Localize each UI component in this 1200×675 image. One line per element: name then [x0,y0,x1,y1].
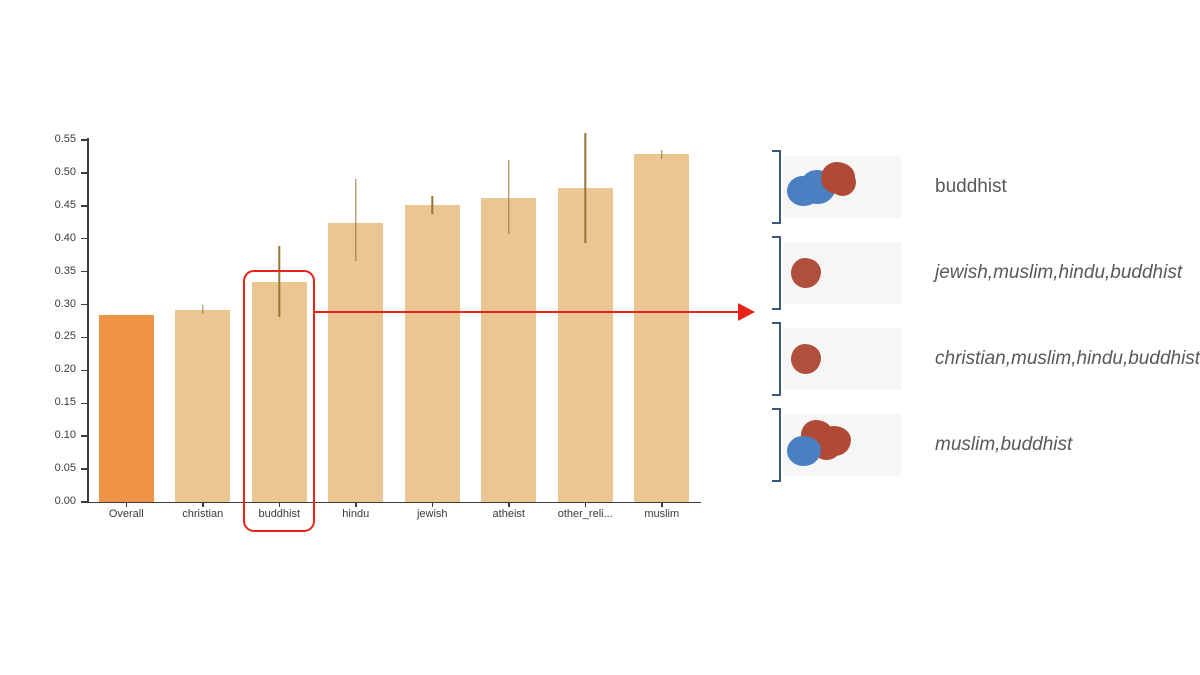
concept-blob-thumbnail [783,414,901,476]
error-bar [585,133,586,244]
x-tick-label-buddhist: buddhist [258,508,300,520]
y-tick-mark [81,403,87,405]
y-tick-label: 0.10 [40,430,76,441]
error-bar [508,160,509,234]
annotation-arrow-head [738,303,755,321]
y-tick-label: 0.35 [40,266,76,277]
legend-row[interactable]: jewish,muslim,hindu,buddhist [768,231,1188,315]
error-bar [432,196,433,214]
error-bar [279,246,280,317]
x-tick-label-muslim: muslim [644,508,679,520]
legend-label: buddhist [935,176,1007,198]
y-tick-mark [81,337,87,339]
y-tick-mark [81,370,87,372]
legend-label: christian,muslim,hindu,buddhist [935,348,1200,370]
blob-shape [830,170,856,196]
error-bar [661,150,662,159]
x-tick-mark [661,502,663,507]
error-bar [355,179,356,261]
y-tick-label: 0.00 [40,496,76,507]
bar-chart-panel: 0.550.500.450.400.350.300.250.200.150.10… [0,0,740,675]
y-tick-label: 0.40 [40,233,76,244]
x-tick-mark [508,502,510,507]
x-tick-label-hindu: hindu [342,508,369,520]
y-tick-mark [81,468,87,470]
blob-shape [791,258,821,288]
bar-hindu [328,223,383,502]
y-tick-mark [81,271,87,273]
bracket-icon [768,236,781,310]
blob-shape [787,436,821,466]
bar-christian [175,310,230,502]
x-tick-label-otherreli: other_reli... [558,508,613,520]
plot-area [88,140,700,502]
y-tick-mark [81,501,87,503]
bracket-icon [768,322,781,396]
y-tick-label: 0.25 [40,331,76,342]
x-tick-label-atheist: atheist [493,508,525,520]
y-tick-mark [81,172,87,174]
y-tick-label: 0.05 [40,463,76,474]
concept-blob-thumbnail [783,328,901,390]
bracket-icon [768,150,781,224]
x-tick-mark [279,502,281,507]
y-tick-mark [81,205,87,207]
bar-overall [99,315,154,502]
x-tick-mark [126,502,128,507]
annotation-arrow-line [315,311,738,314]
y-tick-label: 0.15 [40,397,76,408]
bar-muslim [634,154,689,502]
x-tick-label-jewish: jewish [417,508,448,520]
x-tick-mark [432,502,434,507]
y-tick-label: 0.55 [40,134,76,145]
bracket-icon [768,408,781,482]
y-tick-mark [81,304,87,306]
concept-blob-thumbnail [783,242,901,304]
x-tick-mark [585,502,587,507]
error-bar [202,305,203,315]
x-tick-label-overall: Overall [109,508,144,520]
y-tick-mark [81,238,87,240]
concept-blob-thumbnail [783,156,901,218]
x-tick-mark [355,502,357,507]
legend-label: muslim,buddhist [935,434,1072,456]
y-tick-mark [81,435,87,437]
y-tick-label: 0.45 [40,200,76,211]
legend-row[interactable]: buddhist [768,145,1188,229]
legend-row[interactable]: muslim,buddhist [768,403,1188,487]
legend-row[interactable]: christian,muslim,hindu,buddhist [768,317,1188,401]
bar-atheist [481,198,536,502]
bar-jewish [405,205,460,502]
y-tick-mark [81,139,87,141]
y-tick-label: 0.50 [40,167,76,178]
legend-label: jewish,muslim,hindu,buddhist [935,262,1182,284]
x-tick-mark [202,502,204,507]
y-tick-label: 0.20 [40,364,76,375]
legend-panel: buddhistjewish,muslim,hindu,buddhistchri… [768,145,1188,489]
y-tick-label: 0.30 [40,299,76,310]
x-tick-label-christian: christian [182,508,223,520]
blob-shape [791,344,821,374]
